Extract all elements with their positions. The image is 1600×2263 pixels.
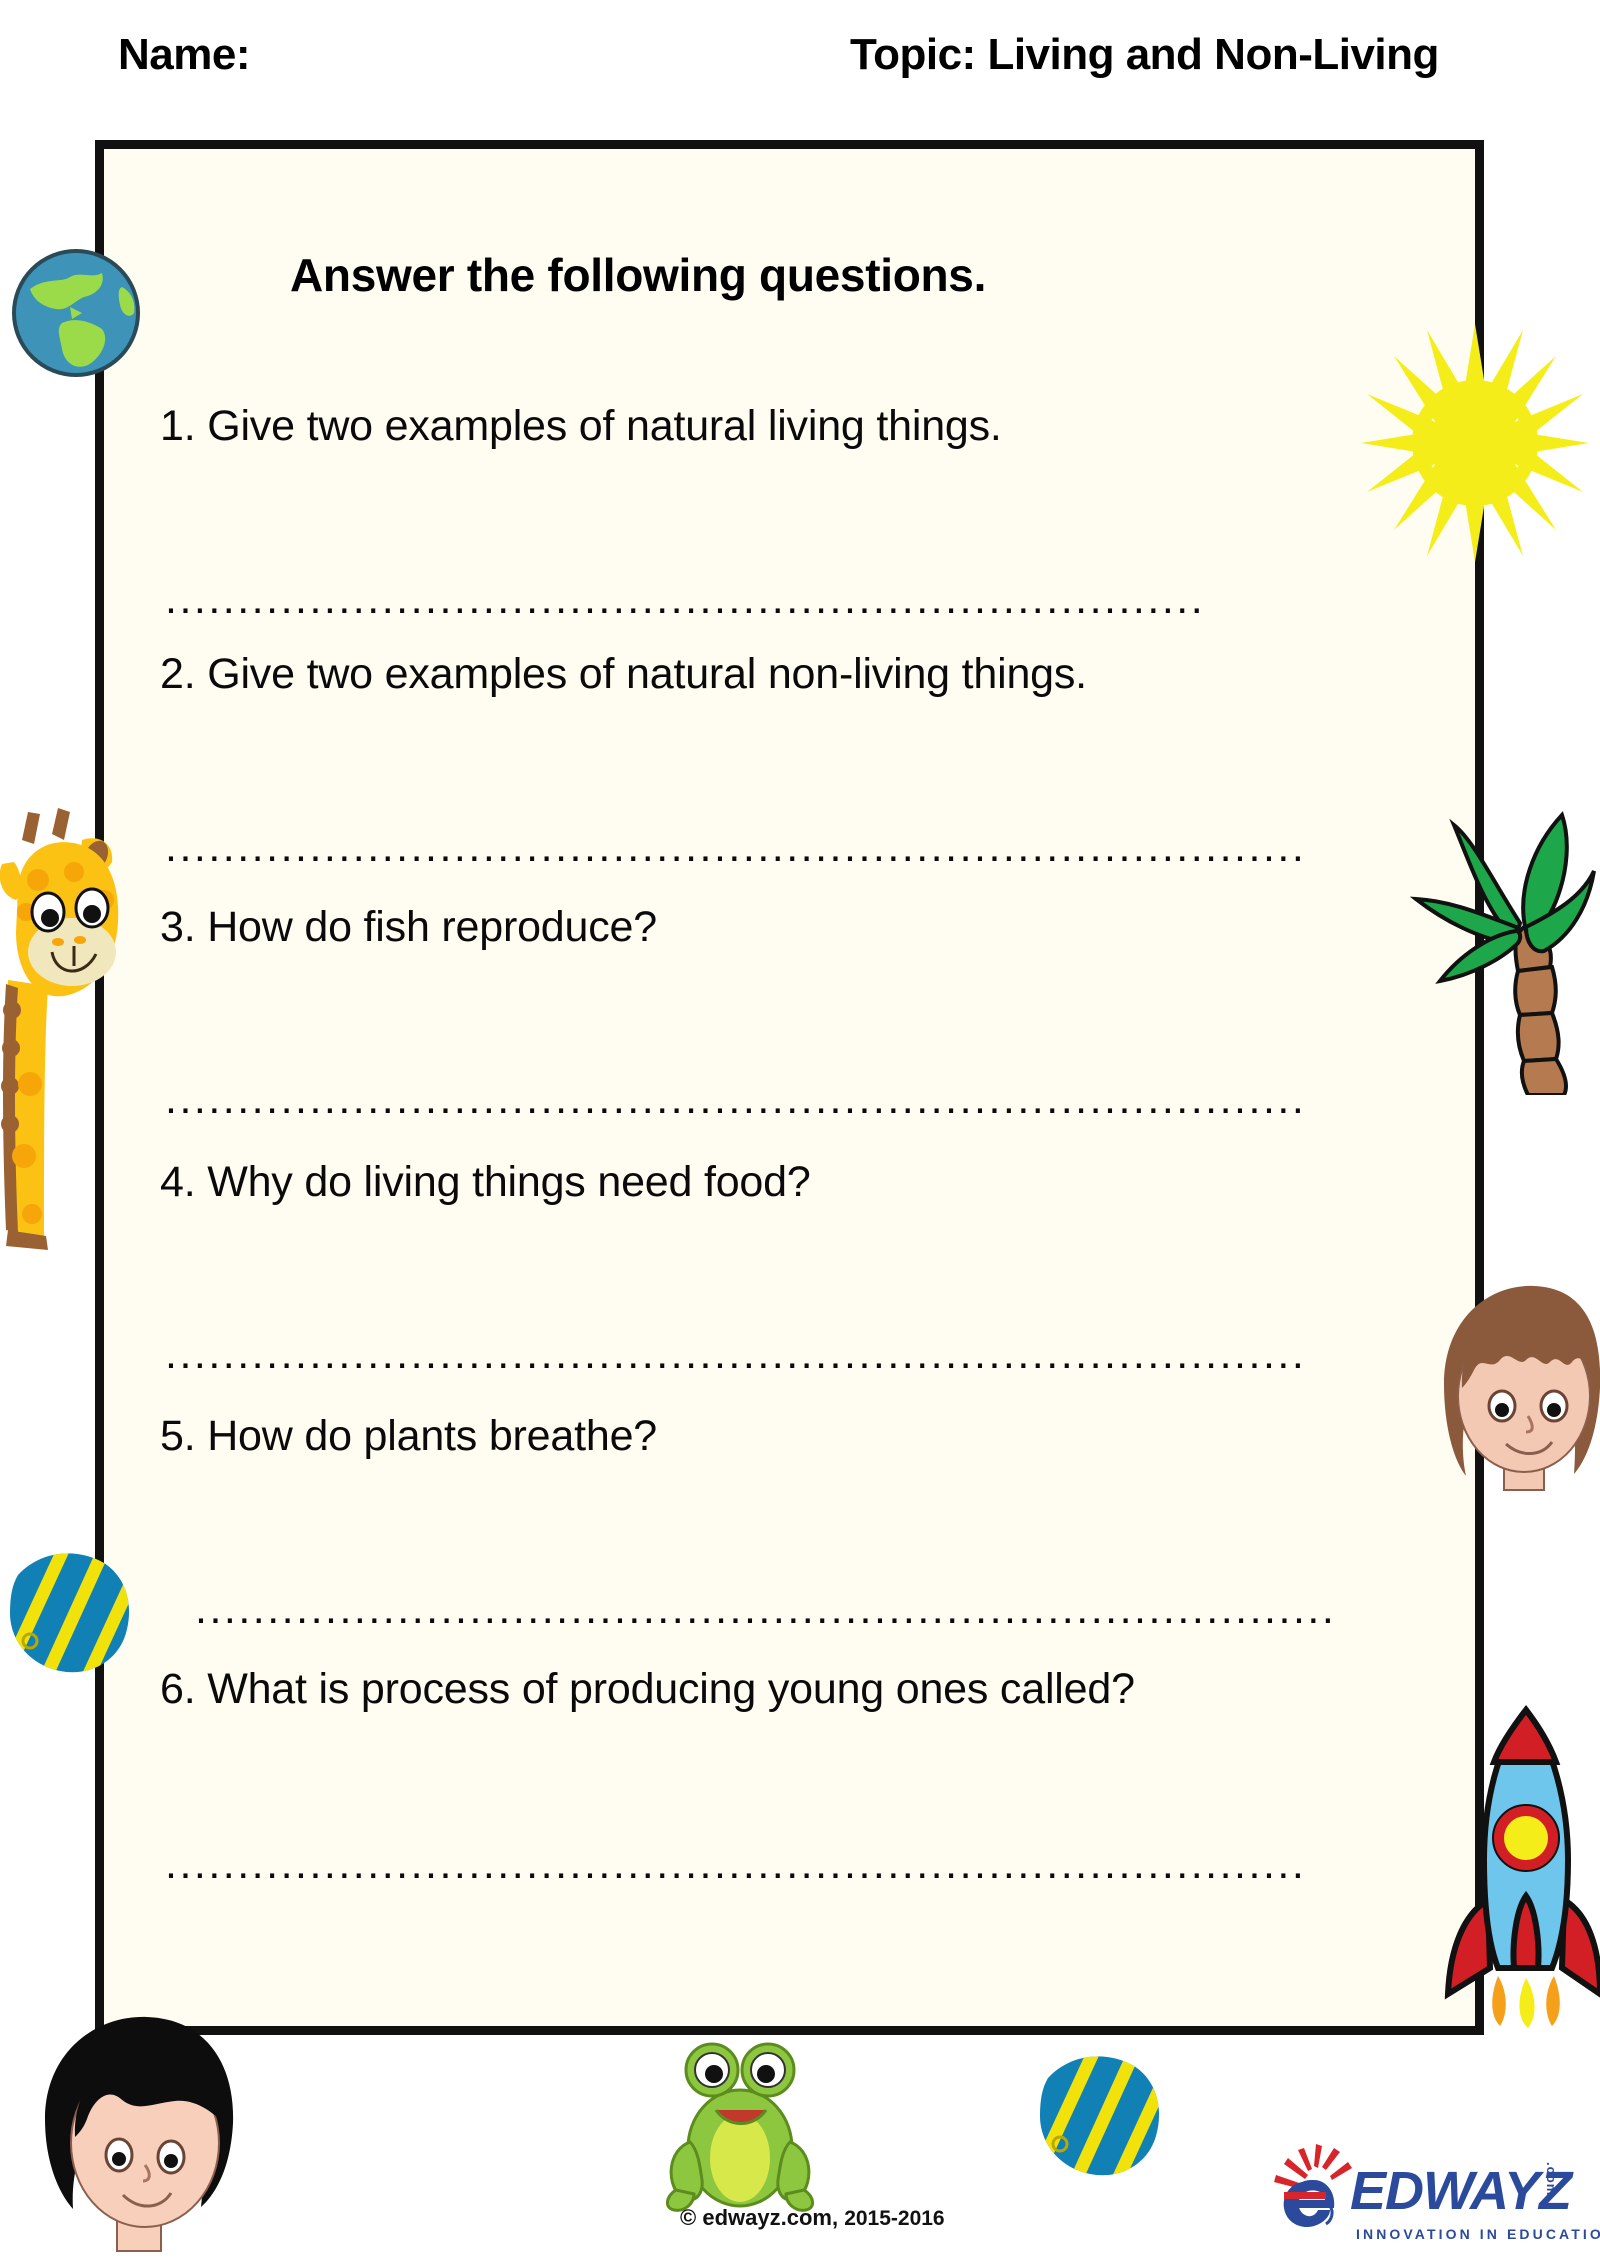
logo-tagline: INNOVATION IN EDUCATION	[1356, 2226, 1600, 2242]
sun-icon	[1355, 318, 1595, 568]
answer-line-6[interactable]: ........................................…	[165, 1840, 1375, 1889]
question-6: 6. What is process of producing young on…	[160, 1665, 1135, 1714]
logo-domain-suffix: .com	[1544, 2162, 1559, 2196]
copyright-site: edwayz.com,	[702, 2205, 838, 2230]
giraffe-icon	[0, 800, 120, 1280]
rocket-icon	[1440, 1700, 1600, 2030]
answer-line-5[interactable]: ........................................…	[195, 1585, 1375, 1634]
answer-line-1[interactable]: ........................................…	[165, 575, 1275, 624]
palm-tree-icon	[1398, 775, 1598, 1095]
frog-icon	[660, 2030, 820, 2220]
page-title: Answer the following questions.	[290, 248, 986, 302]
question-5: 5. How do plants breathe?	[160, 1412, 657, 1461]
boy-face-icon	[35, 2015, 245, 2263]
logo-wordmark: EDWAYZ	[1350, 2164, 1571, 2218]
girl-face-icon	[1438, 1278, 1600, 1500]
answer-line-2[interactable]: ........................................…	[165, 823, 1350, 872]
worksheet-page: Name: Topic: Living and Non-Living Answe…	[0, 0, 1600, 2263]
copyright-years: 2015-2016	[844, 2207, 944, 2230]
name-label: Name:	[118, 30, 250, 80]
question-3: 3. How do fish reproduce?	[160, 903, 657, 952]
fish-left-icon	[0, 1545, 145, 1680]
copyright-symbol: ©	[680, 2205, 696, 2230]
fish-bottom-icon	[1030, 2048, 1175, 2183]
answer-line-4[interactable]: ........................................…	[165, 1330, 1350, 1379]
question-4: 4. Why do living things need food?	[160, 1158, 811, 1207]
topic-label: Topic: Living and Non-Living	[850, 30, 1439, 80]
answer-line-3[interactable]: ........................................…	[165, 1075, 1365, 1124]
question-1: 1. Give two examples of natural living t…	[160, 402, 1002, 451]
earth-globe-icon	[10, 243, 142, 383]
edwayz-logo[interactable]: EDWAYZ .com INNOVATION IN EDUCATION	[1272, 2142, 1592, 2254]
question-2: 2. Give two examples of natural non-livi…	[160, 650, 1087, 699]
copyright-notice: © edwayz.com, 2015-2016	[680, 2205, 945, 2231]
